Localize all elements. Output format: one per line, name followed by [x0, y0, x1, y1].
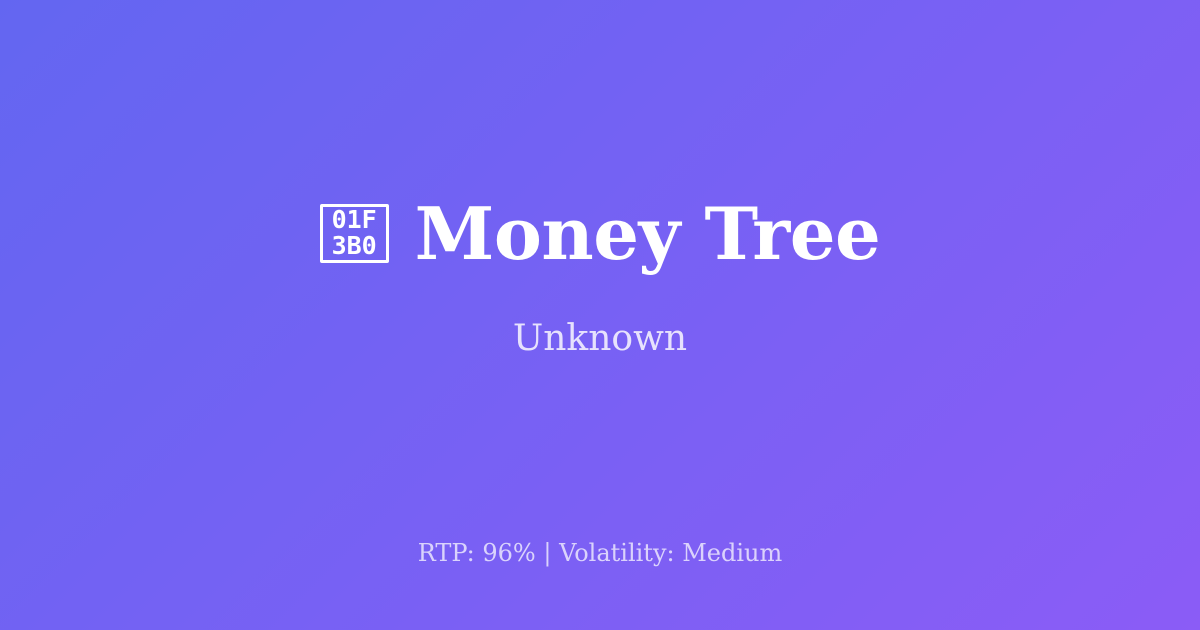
slot-machine-emoji-icon: 01F 3B0	[320, 204, 389, 263]
game-banner: 01F 3B0 Money Tree Unknown RTP: 96% | Vo…	[0, 0, 1200, 630]
tofu-codepoint-line-1: 01F	[332, 207, 377, 233]
game-provider-subtitle: Unknown	[513, 317, 687, 360]
rtp-volatility-text: RTP: 96% | Volatility: Medium	[418, 539, 783, 568]
title-row: 01F 3B0 Money Tree	[320, 196, 881, 272]
hero-block: 01F 3B0 Money Tree Unknown	[0, 0, 1200, 630]
footer-meta: RTP: 96% | Volatility: Medium	[0, 539, 1200, 568]
tofu-codepoint-line-2: 3B0	[332, 233, 377, 259]
page-title: Money Tree	[415, 196, 881, 272]
